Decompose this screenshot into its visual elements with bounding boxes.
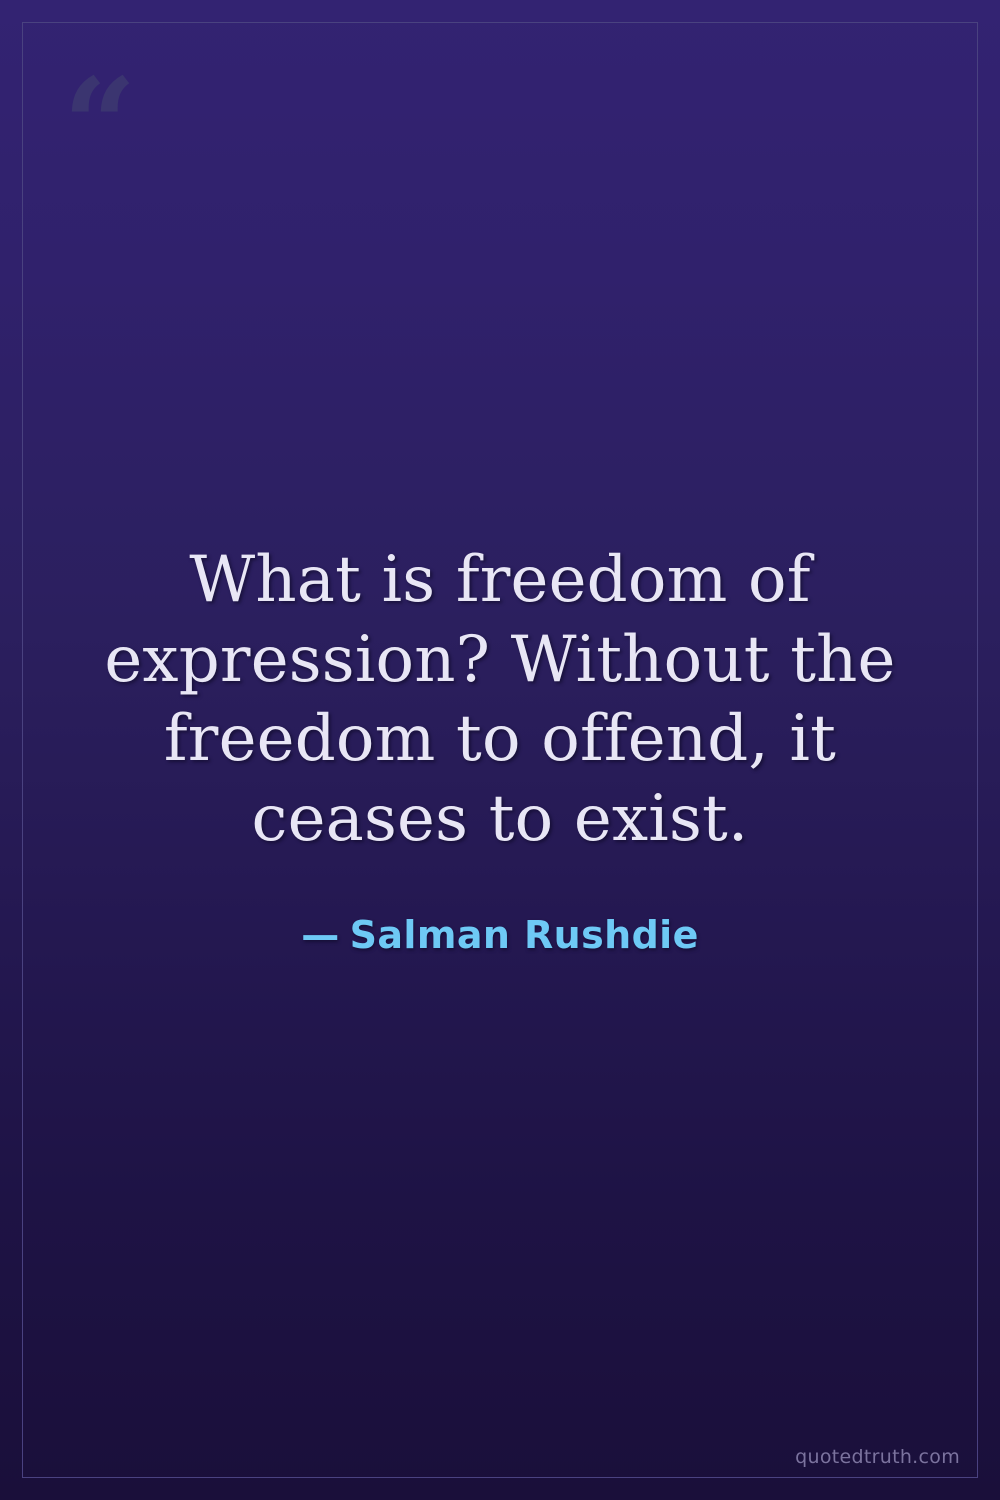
quote-content-block: What is freedom of expression? Without t… [0,0,1000,1500]
quote-attribution: —Salman Rushdie [301,913,699,959]
quote-card: “ What is freedom of expression? Without… [0,0,1000,1500]
site-watermark: quotedtruth.com [795,1446,960,1468]
attribution-author-name: Salman Rushdie [350,913,699,957]
attribution-dash: — [301,913,339,957]
quote-text: What is freedom of expression? Without t… [78,541,922,858]
